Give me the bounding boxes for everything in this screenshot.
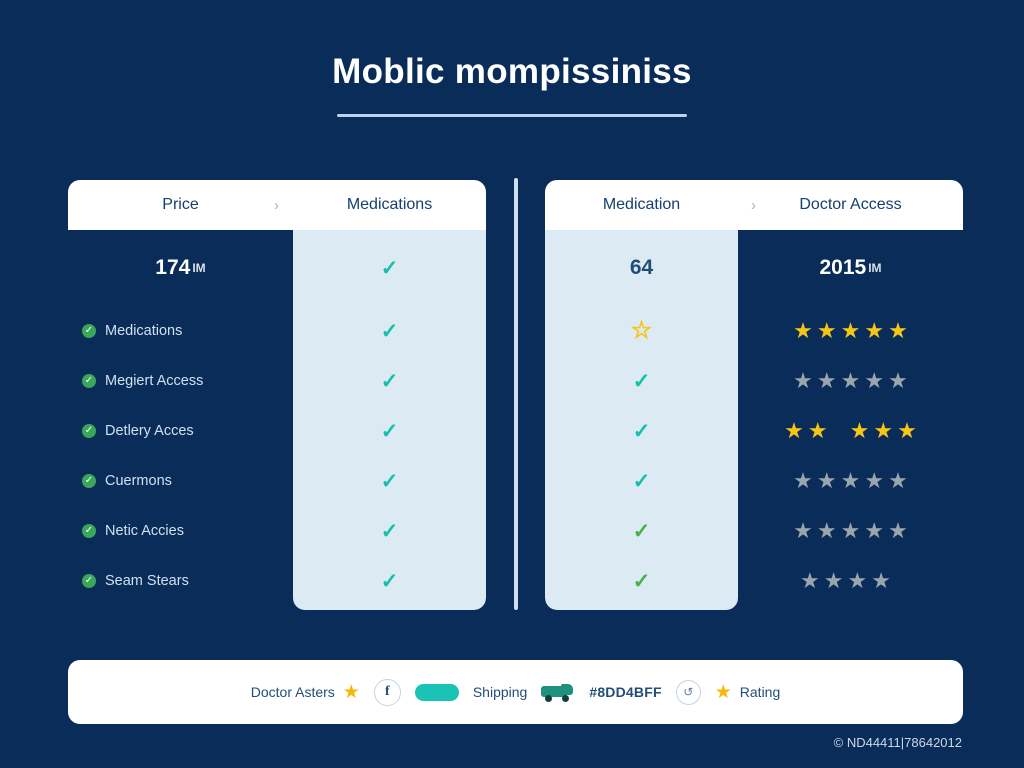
table-row[interactable]: ☆ ★ ★ ★ ★ ★ xyxy=(545,306,963,356)
row-mark-cell: ✓ xyxy=(545,371,738,392)
rating-stars: ★ ★ ★ ★ ★ xyxy=(793,370,908,392)
row-label: Detlery Acces xyxy=(105,423,194,439)
truck-wheel-rear xyxy=(562,695,569,702)
star-icon: ★ xyxy=(841,520,861,542)
row-label: Medications xyxy=(105,323,182,339)
rating-stars: ★ ★ ★ ★ xyxy=(800,570,891,592)
table-row[interactable]: ✓ ★ ★ ★ ★ ★ xyxy=(545,406,963,456)
star-icon: ★ xyxy=(864,370,884,392)
star-icon: ★ xyxy=(784,420,804,442)
star-icon: ★ xyxy=(888,470,908,492)
center-divider xyxy=(514,178,518,610)
check-icon: ✓ xyxy=(381,321,399,342)
row-mark-cell: ✓ xyxy=(293,471,486,492)
rating-stars: ★ ★ ★ ★ ★ xyxy=(784,420,917,442)
star-icon: ★ xyxy=(817,370,837,392)
row-rating-cell: ★ ★ ★ ★ ★ xyxy=(738,420,963,442)
panel-left-summary-row: 174IM ✓ xyxy=(68,230,486,306)
check-icon: ✓ xyxy=(381,258,399,279)
star-icon: ★ xyxy=(841,320,861,342)
star-icon: ★ xyxy=(864,470,884,492)
legend-label: Rating xyxy=(740,684,780,700)
facebook-icon[interactable]: f xyxy=(374,679,401,706)
panel-left-summary-value: 174IM xyxy=(68,230,293,306)
check-badge-icon: ✓ xyxy=(82,324,96,338)
table-row[interactable]: ✓ Medications ✓ xyxy=(68,306,486,356)
check-badge-icon: ✓ xyxy=(82,524,96,538)
table-row[interactable]: ✓ Seam Stears ✓ xyxy=(68,556,486,606)
panel-left-summary-unit: IM xyxy=(192,261,205,275)
copyright-credit: © ND44411|78642012 xyxy=(834,735,962,750)
panel-right-summary-row: 64 2015IM xyxy=(545,230,963,306)
panel-left-column-b-label: Medications xyxy=(293,196,486,214)
comparison-panel-right: Medication › Doctor Access 64 2015IM ☆ ★… xyxy=(545,180,963,610)
star-icon: ★ xyxy=(888,370,908,392)
table-row[interactable]: ✓ Cuermons ✓ xyxy=(68,456,486,506)
row-rating-cell: ★ ★ ★ ★ ★ xyxy=(738,320,963,342)
row-mark-cell: ☆ xyxy=(545,319,738,343)
star-icon: ★ xyxy=(793,470,813,492)
star-icon: ★ xyxy=(864,520,884,542)
table-row[interactable]: ✓ ★ ★ ★ ★ ★ xyxy=(545,456,963,506)
table-row[interactable]: ✓ ★ ★ ★ ★ xyxy=(545,556,963,606)
table-row[interactable]: ✓ Megiert Access ✓ xyxy=(68,356,486,406)
star-icon: ★ xyxy=(897,420,917,442)
row-rating-cell: ★ ★ ★ ★ xyxy=(738,570,963,592)
row-mark-cell: ✓ xyxy=(293,421,486,442)
page-title: Moblic mompissiniss xyxy=(0,52,1024,92)
star-icon: ★ xyxy=(824,570,844,592)
star-icon: ★ xyxy=(848,570,868,592)
panel-right-summary-left-value: 64 xyxy=(545,230,738,306)
chevron-right-icon: › xyxy=(274,197,279,214)
check-icon: ✓ xyxy=(633,421,651,442)
row-mark-cell: ✓ xyxy=(545,571,738,592)
table-row[interactable]: ✓ ★ ★ ★ ★ ★ xyxy=(545,356,963,406)
star-icon: ★ xyxy=(800,570,820,592)
star-icon: ★ xyxy=(715,683,732,702)
star-icon: ★ xyxy=(841,370,861,392)
check-icon: ✓ xyxy=(633,571,651,592)
star-icon: ★ xyxy=(888,320,908,342)
row-label: Megiert Access xyxy=(105,373,203,389)
check-badge-icon: ✓ xyxy=(82,474,96,488)
rating-stars: ★ ★ ★ ★ ★ xyxy=(793,470,908,492)
row-label-cell: ✓ Seam Stears xyxy=(68,573,293,589)
star-icon: ★ xyxy=(817,320,837,342)
check-icon: ✓ xyxy=(381,471,399,492)
comparison-panel-left: Price › Medications 174IM ✓ ✓ Medication… xyxy=(68,180,486,610)
check-badge-icon: ✓ xyxy=(82,374,96,388)
panel-right-column-a-label: Medication xyxy=(545,196,738,214)
table-row[interactable]: ✓ Detlery Acces ✓ xyxy=(68,406,486,456)
legend-label: Shipping xyxy=(473,684,528,700)
panel-left-summary-number: 174 xyxy=(155,256,190,280)
check-icon: ✓ xyxy=(633,521,651,542)
row-mark-cell: ✓ xyxy=(545,521,738,542)
star-outline-icon: ☆ xyxy=(631,319,653,343)
truck-cab xyxy=(561,684,573,695)
star-icon: ★ xyxy=(793,370,813,392)
star-icon: ★ xyxy=(793,320,813,342)
star-icon: ★ xyxy=(841,470,861,492)
row-label: Cuermons xyxy=(105,473,172,489)
check-badge-icon: ✓ xyxy=(82,424,96,438)
star-icon: ★ xyxy=(871,570,891,592)
row-label-cell: ✓ Detlery Acces xyxy=(68,423,293,439)
truck-icon xyxy=(541,684,575,701)
title-underline xyxy=(337,114,687,117)
row-rating-cell: ★ ★ ★ ★ ★ xyxy=(738,520,963,542)
legend-item-shipping[interactable]: Shipping xyxy=(473,684,528,700)
panel-left-rows: ✓ Medications ✓ ✓ Megiert Access ✓ ✓ xyxy=(68,306,486,606)
star-icon: ★ xyxy=(343,683,360,702)
panel-left-summary-check: ✓ xyxy=(293,230,486,306)
panel-right-rows: ☆ ★ ★ ★ ★ ★ ✓ ★ xyxy=(545,306,963,606)
rating-stars: ★ ★ ★ ★ ★ xyxy=(793,320,908,342)
row-mark-cell: ✓ xyxy=(293,371,486,392)
check-icon: ✓ xyxy=(381,421,399,442)
row-rating-cell: ★ ★ ★ ★ ★ xyxy=(738,370,963,392)
panel-left-header: Price › Medications xyxy=(68,180,486,230)
star-icon: ★ xyxy=(864,320,884,342)
star-icon: ★ xyxy=(808,420,828,442)
check-icon: ✓ xyxy=(633,471,651,492)
page-root: Moblic mompissiniss Price › Medications … xyxy=(0,0,1024,768)
check-icon: ✓ xyxy=(381,571,399,592)
chevron-right-icon: › xyxy=(751,197,756,214)
row-label-cell: ✓ Netic Accies xyxy=(68,523,293,539)
table-row[interactable]: ✓ Netic Accies ✓ xyxy=(68,506,486,556)
row-mark-cell: ✓ xyxy=(293,571,486,592)
check-icon: ✓ xyxy=(633,371,651,392)
panel-right-header: Medication › Doctor Access xyxy=(545,180,963,230)
legend-bar: Doctor Asters ★ f Shipping #8DD4BFF ↺ ★ … xyxy=(68,660,963,724)
check-icon: ✓ xyxy=(381,371,399,392)
star-icon: ★ xyxy=(888,520,908,542)
star-icon: ★ xyxy=(873,420,893,442)
panel-right-summary-number: 64 xyxy=(630,256,653,280)
row-label-cell: ✓ Medications xyxy=(68,323,293,339)
table-row[interactable]: ✓ ★ ★ ★ ★ ★ xyxy=(545,506,963,556)
row-mark-cell: ✓ xyxy=(293,321,486,342)
star-icon: ★ xyxy=(817,520,837,542)
star-icon: ★ xyxy=(850,420,870,442)
row-mark-cell: ✓ xyxy=(545,471,738,492)
page-header: Moblic mompissiniss xyxy=(0,52,1024,117)
row-label: Netic Accies xyxy=(105,523,184,539)
legend-item-rating[interactable]: ★ Rating xyxy=(715,683,781,702)
row-label-cell: ✓ Megiert Access xyxy=(68,373,293,389)
row-mark-cell: ✓ xyxy=(293,521,486,542)
legend-color-code: #8DD4BFF xyxy=(589,684,661,700)
pill-icon[interactable] xyxy=(415,684,459,701)
legend-item-doctor-asters[interactable]: Doctor Asters ★ xyxy=(251,683,360,702)
panel-right-column-b-label: Doctor Access xyxy=(738,196,963,214)
panel-right-summary-unit: IM xyxy=(868,261,881,275)
star-icon: ★ xyxy=(817,470,837,492)
row-label-cell: ✓ Cuermons xyxy=(68,473,293,489)
panel-left-column-a-label: Price xyxy=(68,196,293,214)
row-rating-cell: ★ ★ ★ ★ ★ xyxy=(738,470,963,492)
panel-right-summary-right-value: 2015IM xyxy=(738,230,963,306)
legend-label: Doctor Asters xyxy=(251,684,335,700)
rating-stars: ★ ★ ★ ★ ★ xyxy=(793,520,908,542)
panel-right-summary-number-2: 2015 xyxy=(819,256,866,280)
check-icon: ✓ xyxy=(381,521,399,542)
star-icon: ★ xyxy=(793,520,813,542)
truck-wheel-front xyxy=(545,695,552,702)
row-label: Seam Stears xyxy=(105,573,189,589)
refresh-icon[interactable]: ↺ xyxy=(676,680,701,705)
check-badge-icon: ✓ xyxy=(82,574,96,588)
row-mark-cell: ✓ xyxy=(545,421,738,442)
